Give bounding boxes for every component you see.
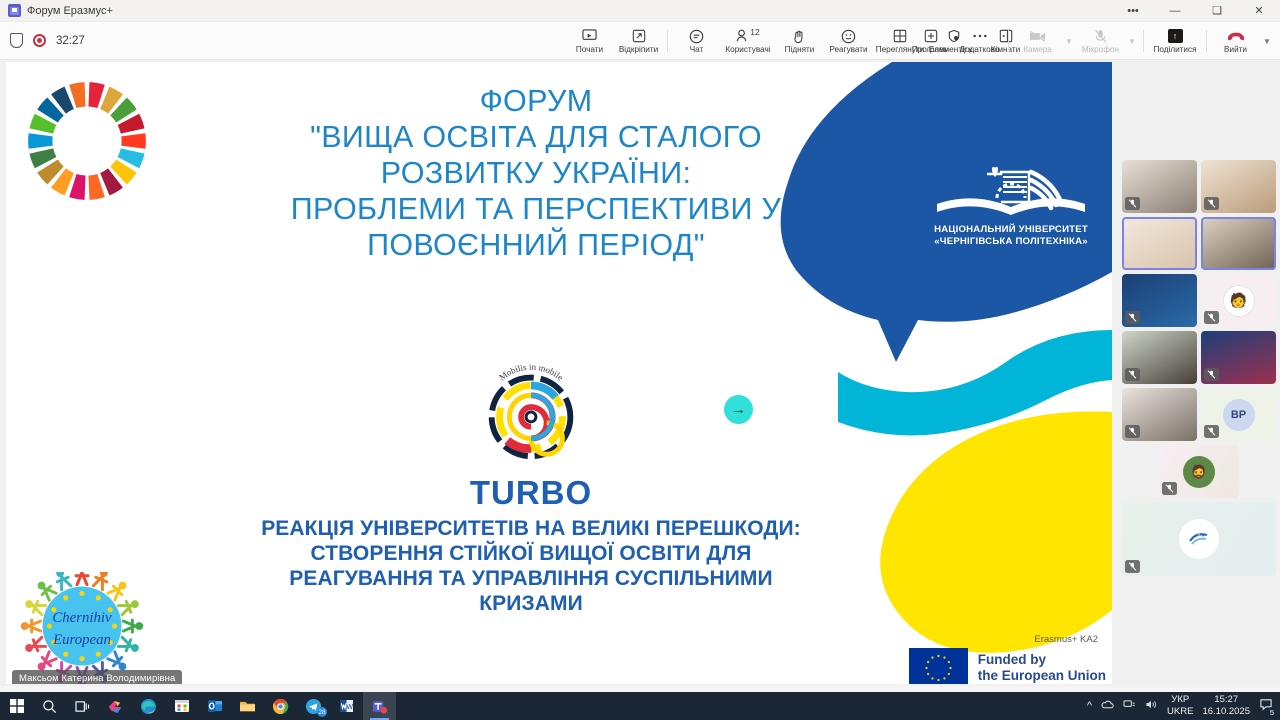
eu-funding-line-2: the European Union <box>978 668 1106 684</box>
university-emblem-icon <box>927 152 1095 222</box>
project-name: TURBO <box>126 476 936 509</box>
mic-off-icon <box>1125 425 1140 438</box>
mic-off-icon <box>1162 482 1177 495</box>
tile-row <box>1122 502 1276 576</box>
participant-tile[interactable] <box>1122 388 1197 441</box>
language-indicator[interactable]: УКР UKRE <box>1167 694 1193 718</box>
clock[interactable]: 15:27 16.10.2025 <box>1202 694 1250 718</box>
notification-count: 5 <box>1267 707 1277 717</box>
mic-off-icon <box>1125 311 1140 324</box>
onedrive-icon[interactable] <box>1101 699 1114 713</box>
participant-tile[interactable]: BP <box>1201 388 1276 441</box>
language-bottom: UKRE <box>1167 706 1193 718</box>
mic-off-icon <box>1204 311 1219 324</box>
titlebar-left: Форум Еразмус+ <box>0 4 113 17</box>
eu-funding-logo: Funded by the European Union <box>909 648 1106 684</box>
leave-label: Вийти <box>1224 45 1247 54</box>
camera-button[interactable]: Камера <box>1013 22 1062 60</box>
window-title: Форум Еразмус+ <box>27 5 113 17</box>
meeting-status-group: 32:27 <box>0 33 85 48</box>
eu-funding-line-1: Funded by <box>978 652 1106 668</box>
mic-off-icon <box>1125 560 1140 573</box>
edge-icon[interactable] <box>132 692 165 720</box>
camera-label: Камера <box>1023 45 1052 54</box>
system-tray: ^ УКР UKRE 15:27 16.10.2025 5 <box>1087 694 1280 718</box>
camera-off-icon <box>1029 28 1047 44</box>
university-logo-text: НАЦІОНАЛЬНИЙ УНІВЕРСИТЕТ «ЧЕРНІГІВСЬКА П… <box>911 152 1111 249</box>
participant-tile[interactable] <box>1122 160 1197 213</box>
participant-video-rail[interactable]: 🧑 BP 🧔 <box>1118 60 1280 686</box>
tile-row <box>1122 160 1276 213</box>
microphone-button[interactable]: Мікрофон <box>1076 22 1125 60</box>
window-close-button[interactable]: ✕ <box>1238 0 1280 22</box>
volume-icon[interactable] <box>1145 699 1158 713</box>
store-icon[interactable] <box>165 692 198 720</box>
people-icon: 12 <box>736 28 759 44</box>
meeting-toolbar-right: Програми Додатково Камера ▼ Мікроф <box>906 22 1274 60</box>
chernihiv-line-1: Chernihiv <box>52 610 112 626</box>
camera-chevron-down-icon[interactable]: ▼ <box>1062 22 1076 60</box>
eu-funding-text: Funded by the European Union <box>978 652 1106 684</box>
university-line-2: «ЧЕРНІГІВСЬКА ПОЛІТЕХНІКА» <box>911 236 1111 248</box>
more-label: Додатково <box>960 45 1000 54</box>
avatar-logo <box>1179 519 1219 559</box>
apps-label: Програми <box>912 45 949 54</box>
microphone-chevron-down-icon[interactable]: ▼ <box>1125 22 1139 60</box>
project-block: Mobilis in mobile TURBO РЕАКЦІЯ УНІВЕРСИ… <box>126 352 936 617</box>
leave-chevron-down-icon[interactable]: ▼ <box>1260 22 1274 60</box>
meeting-toolbar: 32:27 Почати Відкріпити Чат <box>0 22 1280 60</box>
mic-off-icon <box>1125 368 1140 381</box>
participant-tile[interactable] <box>1122 331 1197 384</box>
start-windows-icon[interactable] <box>0 692 33 720</box>
mic-off-icon <box>1125 197 1140 210</box>
project-subtitle: РЕАКЦІЯ УНІВЕРСИТЕТІВ НА ВЕЛИКІ ПЕРЕШКОД… <box>126 517 936 617</box>
toolbar-divider-share <box>1143 30 1144 52</box>
chat-icon <box>689 28 704 44</box>
share-screen-icon: ↑ <box>1168 28 1183 44</box>
more-button[interactable]: Додатково <box>955 22 1004 60</box>
telegram-icon[interactable]: 28 <box>297 692 330 720</box>
participant-tile[interactable] <box>1122 274 1197 327</box>
start-sharing-label: Почати <box>576 45 603 54</box>
window-more-button[interactable]: ••• <box>1112 0 1154 22</box>
chat-button[interactable]: Чат <box>672 22 721 60</box>
participants-button[interactable]: 12 Користувачі <box>721 22 775 60</box>
participant-tile[interactable] <box>1201 217 1276 270</box>
teams-icon <box>8 4 21 17</box>
toolbar-divider-leave <box>1206 30 1207 52</box>
toolbar-divider-right <box>1008 30 1009 52</box>
chrome-icon[interactable] <box>264 692 297 720</box>
teams-icon[interactable] <box>363 692 396 720</box>
tile-row: 🧑 <box>1122 274 1276 327</box>
clock-time: 15:27 <box>1202 694 1250 706</box>
meeting-timer: 32:27 <box>56 35 85 47</box>
ellipsis-icon <box>972 28 988 44</box>
outlook-icon[interactable] <box>198 692 231 720</box>
raise-hand-button[interactable]: Підняти <box>775 22 824 60</box>
microphone-label: Мікрофон <box>1082 45 1119 54</box>
toolbar-divider <box>667 30 668 52</box>
chat-label: Чат <box>690 45 704 54</box>
participants-count: 12 <box>750 27 759 37</box>
participant-tile[interactable] <box>1201 331 1276 384</box>
screen-share-icon <box>582 28 597 44</box>
recording-dot-icon[interactable] <box>33 34 46 47</box>
clock-date: 16.10.2025 <box>1202 706 1250 718</box>
emoji-icon <box>841 28 856 44</box>
participants-label: Користувачі <box>725 45 770 54</box>
hand-icon <box>793 28 806 44</box>
next-slide-button[interactable]: → <box>724 395 753 424</box>
svg-text:W: W <box>346 704 353 711</box>
leave-button[interactable]: Вийти <box>1211 22 1260 60</box>
chernihiv-european-logo: Chernihiv European <box>8 572 156 684</box>
meeting-stage: НАЦІОНАЛЬНИЙ УНІВЕРСИТЕТ «ЧЕРНІГІВСЬКА П… <box>0 60 1118 686</box>
participant-tile[interactable] <box>1122 217 1197 270</box>
mic-off-icon <box>1094 28 1107 44</box>
turbo-logo-icon: Mobilis in mobile <box>472 352 590 470</box>
language-top: УКР <box>1167 694 1193 706</box>
raise-hand-label: Підняти <box>785 45 815 54</box>
grid-view-icon <box>893 28 907 44</box>
tile-row: 🧔 <box>1122 445 1276 498</box>
react-button[interactable]: Реагувати <box>824 22 873 60</box>
shared-presentation-slide[interactable]: НАЦІОНАЛЬНИЙ УНІВЕРСИТЕТ «ЧЕРНІГІВСЬКА П… <box>6 62 1112 684</box>
share-label: Поділитися <box>1153 45 1196 54</box>
apps-button[interactable]: Програми <box>906 22 955 60</box>
telegram-badge-count: 28 <box>317 707 327 717</box>
participant-tile[interactable]: 🧑 <box>1201 274 1276 327</box>
file-explorer-icon[interactable] <box>231 692 264 720</box>
shield-icon[interactable] <box>10 33 23 48</box>
search-icon[interactable] <box>33 692 66 720</box>
erasmus-programme-label: Erasmus+ KA2 <box>1034 634 1098 645</box>
chernihiv-line-2: European <box>52 632 111 648</box>
notifications-icon[interactable]: 5 <box>1259 698 1273 714</box>
participant-tile[interactable] <box>1201 160 1276 213</box>
mic-off-icon <box>1204 368 1219 381</box>
tile-row <box>1122 331 1276 384</box>
office-icon[interactable] <box>99 692 132 720</box>
unpin-icon <box>632 28 646 44</box>
task-view-icon[interactable] <box>66 692 99 720</box>
word-icon[interactable]: W <box>330 692 363 720</box>
mic-off-icon <box>1204 425 1219 438</box>
windows-taskbar: 28 W ^ УКР UKRE 15:27 16.10. <box>0 692 1280 720</box>
eu-flag-icon <box>909 648 968 684</box>
unpin-label: Відкріпити <box>619 45 658 54</box>
hangup-icon <box>1226 28 1246 44</box>
teams-meeting-window: Форум Еразмус+ ••• — ❑ ✕ 32:27 Почати <box>0 0 1280 720</box>
window-controls: ••• — ❑ ✕ <box>1112 0 1280 22</box>
share-button[interactable]: ↑ Поділитися <box>1148 22 1202 60</box>
network-icon[interactable] <box>1123 699 1136 713</box>
start-sharing-button[interactable]: Почати <box>565 22 614 60</box>
window-minimize-button[interactable]: — <box>1154 0 1196 22</box>
participant-tile[interactable] <box>1122 502 1276 576</box>
participant-tile[interactable]: 🧔 <box>1159 445 1239 498</box>
window-titlebar: Форум Еразмус+ ••• — ❑ ✕ <box>0 0 1280 22</box>
page-title: ФОРУМ"ВИЩА ОСВІТА ДЛЯ СТАЛОГОРОЗВИТКУ УК… <box>196 84 876 264</box>
window-maximize-button[interactable]: ❑ <box>1196 0 1238 22</box>
presenter-name-badge: Максьом Катерина Володимирівна <box>12 670 182 684</box>
university-line-1: НАЦІОНАЛЬНИЙ УНІВЕРСИТЕТ <box>911 224 1111 236</box>
react-label: Реагувати <box>829 45 867 54</box>
sdg-wheel-logo <box>22 77 152 205</box>
avatar: 🧑 <box>1223 285 1255 317</box>
tile-row: BP <box>1122 388 1276 441</box>
unpin-button[interactable]: Відкріпити <box>614 22 663 60</box>
chevron-up-icon[interactable]: ^ <box>1087 700 1092 712</box>
tile-row <box>1122 217 1276 270</box>
mic-off-icon <box>1204 197 1219 210</box>
plus-box-icon <box>924 28 938 44</box>
avatar-initials: BP <box>1223 399 1255 431</box>
avatar: 🧔 <box>1183 456 1215 488</box>
